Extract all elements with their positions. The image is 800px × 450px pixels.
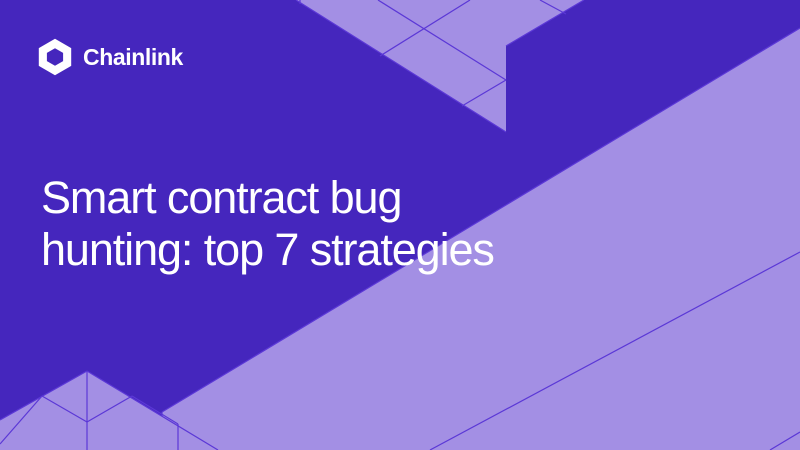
title-card: Chainlink Smart contract bug hunting: to… bbox=[0, 0, 800, 450]
brand-wordmark: Chainlink bbox=[83, 46, 183, 69]
brand-lockup: Chainlink bbox=[38, 38, 183, 76]
page-title: Smart contract bug hunting: top 7 strate… bbox=[41, 172, 494, 276]
chainlink-hexagon-icon bbox=[38, 38, 72, 76]
